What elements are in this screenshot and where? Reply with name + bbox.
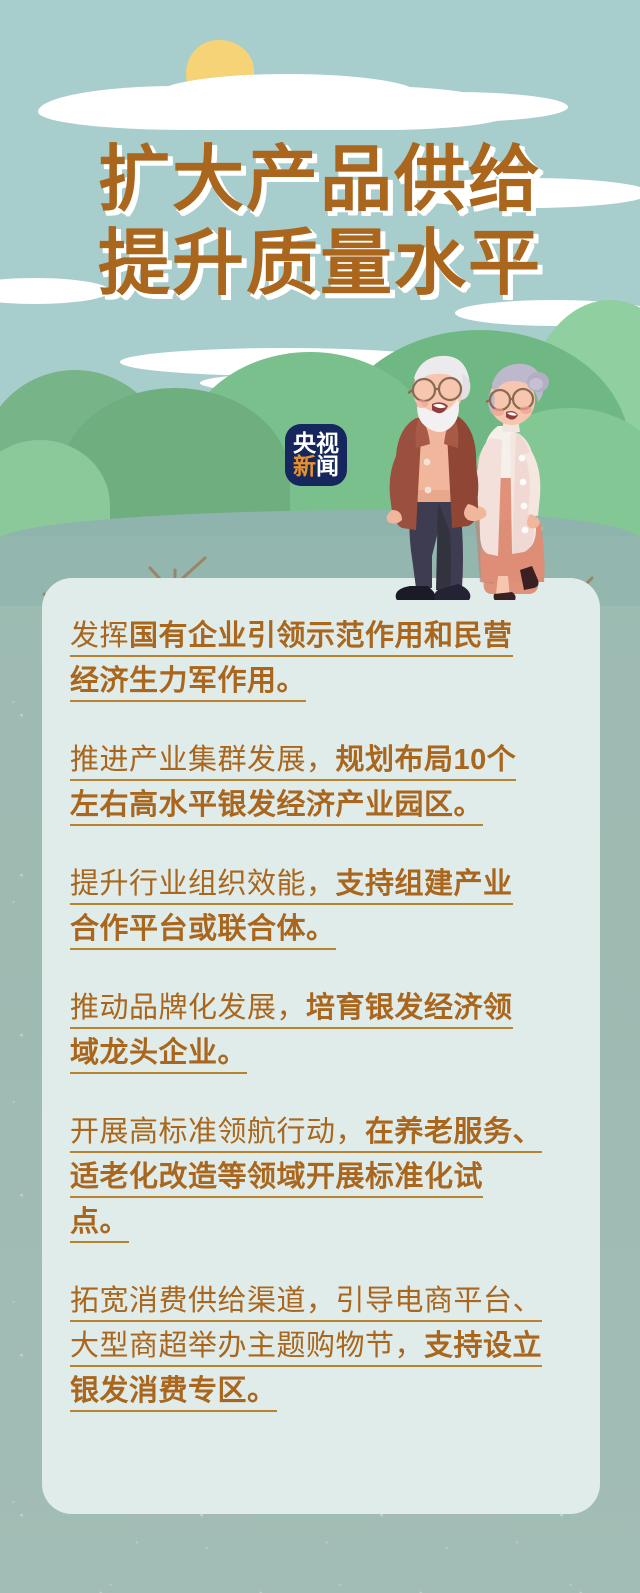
paragraph-line: 拓宽消费供给渠道，引导电商平台、	[70, 1279, 572, 1324]
paragraph-line: 推进产业集群发展，规划布局10个	[70, 738, 572, 783]
paragraph-p4: 推动品牌化发展，培育银发经济领域龙头企业。	[70, 986, 572, 1076]
underlined-text: 开展高标准领航行动，在养老服务、	[70, 1116, 542, 1153]
paragraph-line: 发挥国有企业引领示范作用和民营	[70, 614, 572, 659]
text-emphasis: 域龙头企业。	[70, 1037, 247, 1069]
text-emphasis: 适老化改造等领域开展标准化试	[70, 1161, 483, 1193]
cctv-news-logo[interactable]: 央 视 新 闻	[285, 424, 347, 486]
paragraph-line: 适老化改造等领域开展标准化试	[70, 1155, 572, 1200]
logo-char-yang: 央	[293, 432, 316, 455]
paragraph-list: 发挥国有企业引领示范作用和民营经济生力军作用。推进产业集群发展，规划布局10个左…	[70, 614, 572, 1414]
text-emphasis: 规划布局10个	[336, 744, 517, 776]
paragraph-line: 推动品牌化发展，培育银发经济领	[70, 986, 572, 1031]
paragraph-p6: 拓宽消费供给渠道，引导电商平台、大型商超举办主题购物节，支持设立银发消费专区。	[70, 1279, 572, 1414]
paragraph-line: 银发消费专区。	[70, 1369, 572, 1414]
paragraph-line: 合作平台或联合体。	[70, 907, 572, 952]
underlined-text: 合作平台或联合体。	[70, 913, 336, 950]
content-card: 发挥国有企业引领示范作用和民营经济生力军作用。推进产业集群发展，规划布局10个左…	[42, 578, 600, 1514]
text-emphasis: 点。	[70, 1206, 129, 1238]
title-line-1: 扩大产品供给	[0, 138, 640, 222]
logo-char-xin: 新	[293, 455, 316, 478]
text-normal: 开展高标准领航行动，	[70, 1116, 365, 1148]
underlined-text: 提升行业组织效能，支持组建产业	[70, 868, 513, 905]
text-normal: 发挥	[70, 620, 129, 652]
underlined-text: 发挥国有企业引领示范作用和民营	[70, 620, 513, 657]
paragraph-p5: 开展高标准领航行动，在养老服务、适老化改造等领域开展标准化试点。	[70, 1110, 572, 1245]
underlined-text: 推动品牌化发展，培育银发经济领	[70, 992, 513, 1029]
paragraph-line: 左右高水平银发经济产业园区。	[70, 783, 572, 828]
title-line-2: 提升质量水平	[0, 222, 640, 306]
text-emphasis: 培育银发经济领	[306, 992, 513, 1024]
text-normal: 大型商超举办主题购物节，	[70, 1330, 424, 1362]
paragraph-line: 点。	[70, 1200, 572, 1245]
page-title: 扩大产品供给 提升质量水平	[0, 138, 640, 306]
logo-row-2: 新 闻	[293, 455, 339, 478]
text-emphasis: 支持组建产业	[336, 868, 513, 900]
underlined-text: 大型商超举办主题购物节，支持设立	[70, 1330, 542, 1367]
paragraph-line: 提升行业组织效能，支持组建产业	[70, 862, 572, 907]
underlined-text: 适老化改造等领域开展标准化试	[70, 1161, 483, 1198]
paragraph-p2: 推进产业集群发展，规划布局10个左右高水平银发经济产业园区。	[70, 738, 572, 828]
paragraph-p3: 提升行业组织效能，支持组建产业合作平台或联合体。	[70, 862, 572, 952]
paragraph-line: 开展高标准领航行动，在养老服务、	[70, 1110, 572, 1155]
cloud-band-top	[38, 86, 508, 130]
poster-root: 扩大产品供给 提升质量水平 央 视 新 闻	[0, 0, 640, 1593]
underlined-text: 银发消费专区。	[70, 1375, 277, 1412]
logo-char-shi: 视	[316, 432, 339, 455]
text-normal: 推进产业集群发展，	[70, 744, 336, 776]
woman-figure	[473, 364, 549, 600]
logo-char-wen: 闻	[316, 455, 339, 478]
underlined-text: 推进产业集群发展，规划布局10个	[70, 744, 516, 781]
underlined-text: 左右高水平银发经济产业园区。	[70, 789, 483, 826]
text-emphasis: 合作平台或联合体。	[70, 913, 336, 945]
text-emphasis: 支持设立	[424, 1330, 542, 1362]
text-emphasis: 在养老服务、	[365, 1116, 542, 1148]
paragraph-line: 域龙头企业。	[70, 1031, 572, 1076]
underlined-text: 拓宽消费供给渠道，引导电商平台、	[70, 1285, 542, 1322]
paragraph-p1: 发挥国有企业引领示范作用和民营经济生力军作用。	[70, 614, 572, 704]
elderly-couple-illustration	[380, 352, 590, 600]
text-emphasis: 国有企业引领示范作用和民营	[129, 620, 513, 652]
text-normal: 推动品牌化发展，	[70, 992, 306, 1024]
paragraph-line: 大型商超举办主题购物节，支持设立	[70, 1324, 572, 1369]
text-normal: 提升行业组织效能，	[70, 868, 336, 900]
underlined-text: 点。	[70, 1206, 129, 1243]
man-figure	[387, 356, 482, 600]
underlined-text: 经济生力军作用。	[70, 665, 306, 702]
text-emphasis: 银发消费专区。	[70, 1375, 277, 1407]
text-normal: 拓宽消费供给渠道，引导电商平台、	[70, 1285, 542, 1317]
text-emphasis: 经济生力军作用。	[70, 665, 306, 697]
text-emphasis: 左右高水平银发经济产业园区。	[70, 789, 483, 821]
logo-row-1: 央 视	[293, 432, 339, 455]
paragraph-line: 经济生力军作用。	[70, 659, 572, 704]
underlined-text: 域龙头企业。	[70, 1037, 247, 1074]
